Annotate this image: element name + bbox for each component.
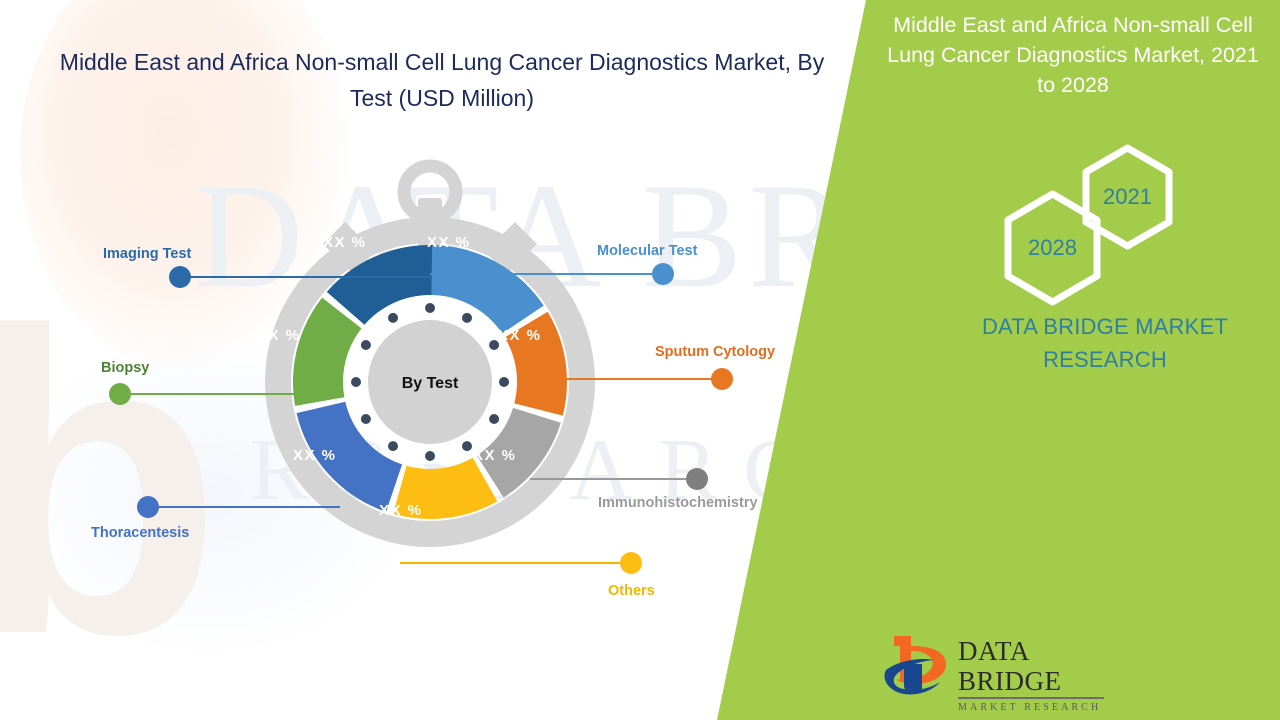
hex-badge-2028: 2028 [1000,190,1105,306]
callout-label-immunohistochemistry[interactable]: Immunohistochemistry [598,495,758,511]
leader-dot-sputum-cytology[interactable] [711,368,733,390]
leader-dot-biopsy[interactable] [109,383,131,405]
panel-brand-name: DATA BRIDGE MARKET RESEARCH [940,310,1270,376]
leader-dot-molecular-test[interactable] [652,263,674,285]
infographic-canvas: b DATA BRIDGE RESEARCH Middle East and A… [0,0,1280,720]
callout-label-molecular-test[interactable]: Molecular Test [597,243,697,259]
logo-divider [958,697,1104,699]
leader-dot-thoracentesis[interactable] [137,496,159,518]
leader-dot-immunohistochemistry[interactable] [686,468,708,490]
leader-dot-others[interactable] [620,552,642,574]
callout-label-thoracentesis[interactable]: Thoracentesis [91,525,189,541]
hex-2028-label: 2028 [1000,190,1105,306]
leader-dot-imaging-test[interactable] [169,266,191,288]
callout-label-imaging-test[interactable]: Imaging Test [103,246,191,262]
callout-label-sputum-cytology[interactable]: Sputum Cytology [655,344,775,360]
logo-tagline: MARKET RESEARCH [958,702,1109,713]
databridge-logo[interactable]: DATA BRIDGE MARKET RESEARCH [884,628,1109,700]
panel-title: Middle East and Africa Non-small Cell Lu… [878,10,1268,100]
databridge-logo-mark-icon [884,630,954,696]
databridge-logo-text: DATA BRIDGE MARKET RESEARCH [958,636,1109,713]
callout-label-biopsy[interactable]: Biopsy [101,360,149,376]
callout-label-others[interactable]: Others [608,583,655,599]
logo-name: DATA BRIDGE [958,636,1109,696]
